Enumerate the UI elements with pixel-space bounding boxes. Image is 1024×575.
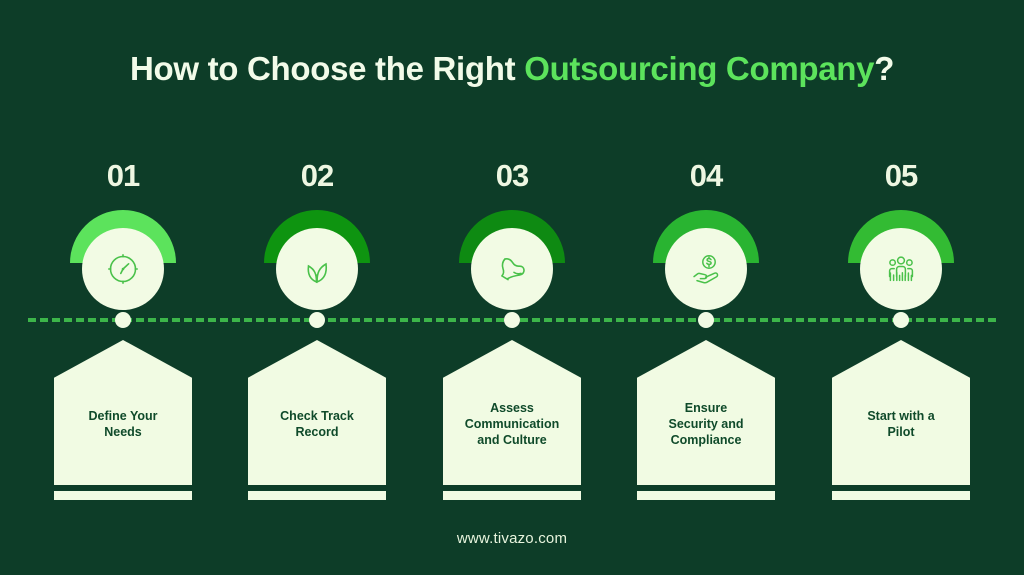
- step-card-label: Assess Communication and Culture: [454, 400, 570, 448]
- step-card-base-bar: [832, 491, 970, 500]
- step-icon-bubble: [82, 228, 164, 310]
- leaf-icon: [297, 249, 337, 289]
- step-card-base-bar: [54, 491, 192, 500]
- timeline-dot: [698, 312, 714, 328]
- step-icon-bubble: [276, 228, 358, 310]
- timeline-dot: [309, 312, 325, 328]
- step-card-base-bar: [443, 491, 581, 500]
- timeline-dot: [115, 312, 131, 328]
- team-group-icon: [881, 249, 921, 289]
- step-card[interactable]: Check Track Record: [248, 340, 386, 485]
- step-icon-bubble: [665, 228, 747, 310]
- step-card[interactable]: Assess Communication and Culture: [443, 340, 581, 485]
- step-card-label: Start with a Pilot: [843, 408, 959, 440]
- step-card-label: Ensure Security and Compliance: [648, 400, 764, 448]
- timeline-dot: [504, 312, 520, 328]
- step-card[interactable]: Ensure Security and Compliance: [637, 340, 775, 485]
- timeline-dot: [893, 312, 909, 328]
- step-number: 02: [220, 158, 414, 194]
- infographic-canvas: How to Choose the Right Outsourcing Comp…: [0, 0, 1024, 575]
- step-icon-bubble: [860, 228, 942, 310]
- step-number: 05: [804, 158, 998, 194]
- step-04[interactable]: 04 Ensure Security and Compliance: [609, 0, 803, 575]
- step-03[interactable]: 03 Assess Communication and Culture: [415, 0, 609, 575]
- step-number: 01: [26, 158, 220, 194]
- step-card-label: Check Track Record: [259, 408, 375, 440]
- step-card[interactable]: Define Your Needs: [54, 340, 192, 485]
- step-number: 03: [415, 158, 609, 194]
- step-icon-bubble: [471, 228, 553, 310]
- footer-website[interactable]: www.tivazo.com: [0, 530, 1024, 547]
- muscle-arm-icon: [492, 249, 532, 289]
- step-card-label: Define Your Needs: [65, 408, 181, 440]
- step-card-base-bar: [637, 491, 775, 500]
- clock-icon: [103, 249, 143, 289]
- step-card-base-bar: [248, 491, 386, 500]
- step-number: 04: [609, 158, 803, 194]
- step-01[interactable]: 01 Define Your Needs: [26, 0, 220, 575]
- hand-holding-coin-icon: [686, 249, 726, 289]
- step-02[interactable]: 02 Check Track Record: [220, 0, 414, 575]
- step-card[interactable]: Start with a Pilot: [832, 340, 970, 485]
- step-05[interactable]: 05 Start with a Pilot: [804, 0, 998, 575]
- steps-container: 01 Define Your Needs 02: [0, 0, 1024, 575]
